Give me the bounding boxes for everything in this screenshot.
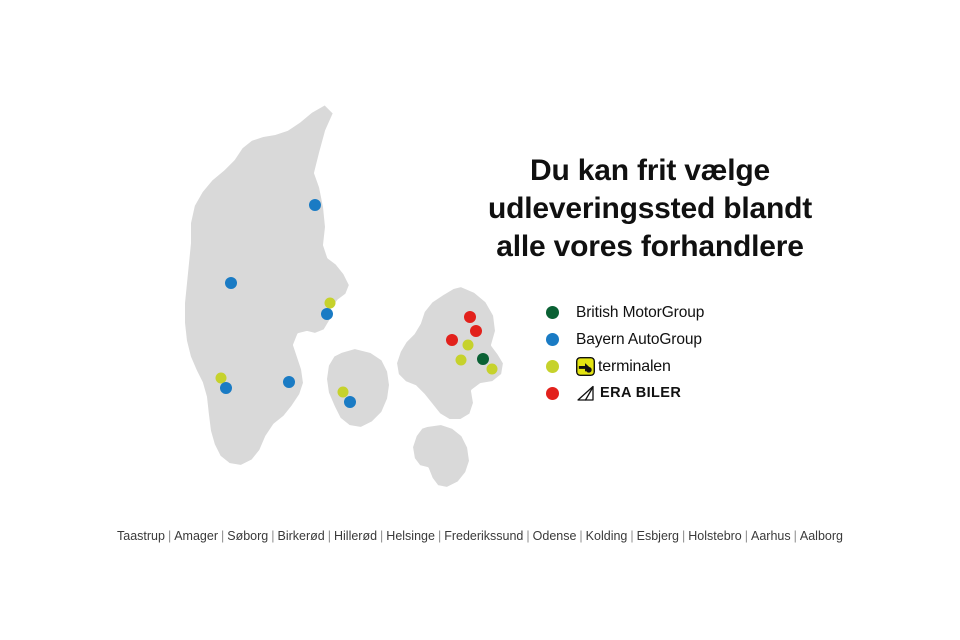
city-separator: |	[435, 529, 444, 543]
map-dot-odense-bayern	[344, 396, 356, 408]
region-funen	[325, 347, 391, 429]
map-dot-birkerod-terminalen	[463, 340, 474, 351]
legend-swatch-yellow-icon	[546, 360, 559, 373]
map-dot-kolding-bayern	[283, 376, 295, 388]
map-dot-soborg-terminalen	[456, 355, 467, 366]
legend-swatch-blue-icon	[546, 333, 559, 346]
headline-line-1: Du kan frit vælge	[455, 152, 845, 190]
city-name: Helsinge	[386, 529, 435, 543]
city-separator: |	[523, 529, 532, 543]
city-separator: |	[791, 529, 800, 543]
city-name: Frederikssund	[444, 529, 523, 543]
legend-item-british-motorgroup: British MotorGroup	[546, 300, 846, 325]
map-dot-taastrup-british	[477, 353, 489, 365]
map-dot-aarhus-terminalen	[325, 298, 336, 309]
legend-label-british-motorgroup: British MotorGroup	[576, 304, 704, 321]
era-biler-brandmark: ERA BILER	[576, 385, 681, 403]
legend-swatch-red-icon	[546, 387, 559, 400]
headline-line-2: udleveringssted blandt	[455, 190, 845, 228]
map-dot-esbjerg-bayern	[220, 382, 232, 394]
city-name: Birkerød	[278, 529, 325, 543]
city-separator: |	[627, 529, 636, 543]
city-name: Hillerød	[334, 529, 377, 543]
terminalen-logo-icon	[576, 357, 595, 376]
map-dot-helsinge-era	[464, 311, 476, 323]
map-dot-holstebro-bayern	[225, 277, 237, 289]
legend-swatch-green-icon	[546, 306, 559, 319]
city-separator: |	[325, 529, 334, 543]
city-list: Taastrup|Amager|Søborg|Birkerød|Hillerød…	[0, 528, 960, 544]
map-dot-hillerod-era	[470, 325, 482, 337]
era-biler-wordmark: ERA BILER	[600, 385, 681, 402]
era-biler-logo-icon	[576, 385, 596, 403]
city-name: Esbjerg	[637, 529, 679, 543]
legend-label-bayern-autogroup: Bayern AutoGroup	[576, 331, 702, 348]
city-separator: |	[742, 529, 751, 543]
city-name: Aalborg	[800, 529, 843, 543]
city-separator: |	[679, 529, 688, 543]
city-name: Holstebro	[688, 529, 742, 543]
city-separator: |	[377, 529, 386, 543]
city-separator: |	[576, 529, 585, 543]
map-dot-frederikssund-era	[446, 334, 458, 346]
slide-canvas: Du kan frit vælge udleveringssted blandt…	[0, 0, 960, 640]
map-dot-aarhus-bayern	[321, 308, 333, 320]
map-legend: British MotorGroup Bayern AutoGroup term…	[546, 300, 846, 408]
city-separator: |	[268, 529, 277, 543]
region-zealand	[395, 285, 505, 421]
city-name: Amager	[174, 529, 218, 543]
headline-line-3: alle vores forhandlere	[455, 228, 845, 266]
city-name: Odense	[533, 529, 577, 543]
terminalen-brandmark: terminalen	[576, 357, 671, 376]
map-dot-aalborg-bayern	[309, 199, 321, 211]
terminalen-wordmark: terminalen	[598, 358, 671, 375]
map-dot-amager-terminalen	[487, 364, 498, 375]
city-separator: |	[218, 529, 227, 543]
city-separator: |	[165, 529, 174, 543]
city-name: Kolding	[586, 529, 628, 543]
region-jutland	[183, 103, 351, 467]
page-title: Du kan frit vælge udleveringssted blandt…	[455, 152, 845, 266]
legend-item-terminalen: terminalen	[546, 354, 846, 379]
city-name: Aarhus	[751, 529, 791, 543]
region-lolland-falster	[411, 423, 471, 489]
city-name: Søborg	[227, 529, 268, 543]
legend-item-era-biler: ERA BILER	[546, 381, 846, 406]
city-name: Taastrup	[117, 529, 165, 543]
legend-item-bayern-autogroup: Bayern AutoGroup	[546, 327, 846, 352]
